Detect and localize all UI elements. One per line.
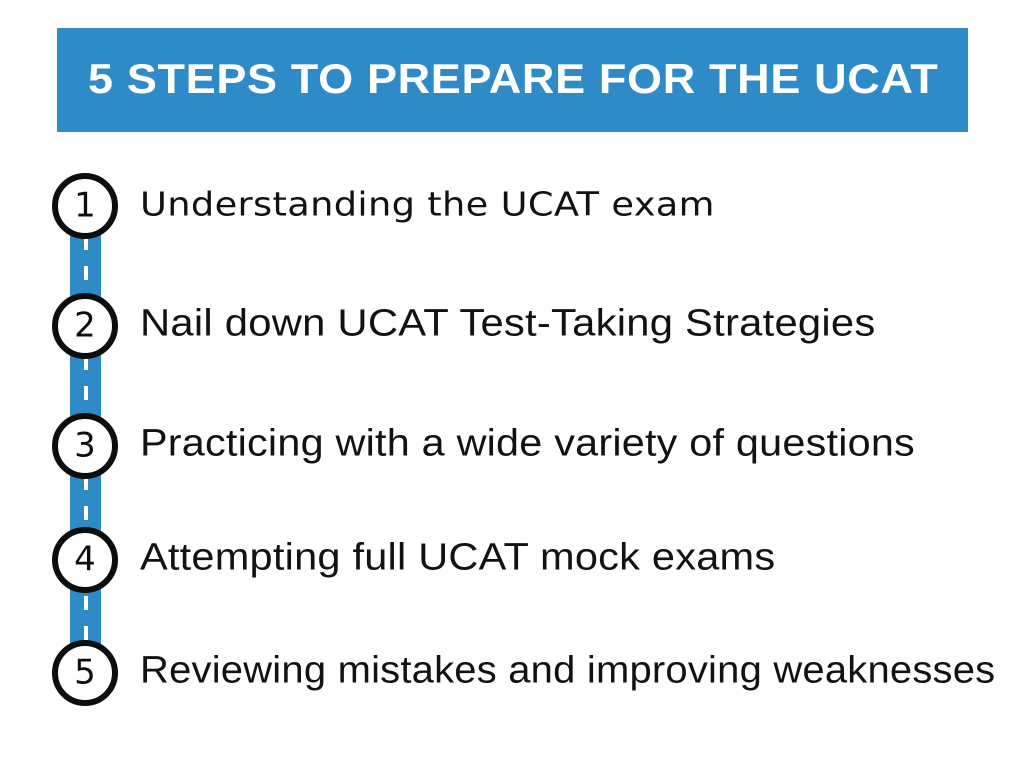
step-number-3: 3	[58, 428, 112, 462]
step-label-2: Nail down UCAT Test-Taking Strategies	[140, 304, 876, 344]
poster-canvas: 5 STEPS TO PREPARE FOR THE UCAT 1 Unders…	[0, 0, 1024, 768]
step-number-1: 1	[58, 188, 112, 222]
step-marker-3: 3	[52, 413, 118, 479]
step-number-4: 4	[58, 542, 112, 576]
step-marker-2: 2	[52, 293, 118, 359]
page-title: 5 STEPS TO PREPARE FOR THE UCAT	[88, 58, 938, 100]
step-marker-4: 4	[52, 527, 118, 593]
header-banner: 5 STEPS TO PREPARE FOR THE UCAT	[57, 28, 968, 132]
step-item-5: 5 Reviewing mistakes and improving weakn…	[0, 640, 1024, 706]
step-label-4: Attempting full UCAT mock exams	[140, 538, 775, 578]
step-marker-5: 5	[52, 640, 118, 706]
step-item-3: 3 Practicing with a wide variety of ques…	[0, 413, 1024, 479]
step-number-2: 2	[58, 308, 112, 342]
step-label-3: Practicing with a wide variety of questi…	[140, 424, 915, 464]
step-number-5: 5	[58, 655, 112, 689]
step-item-4: 4 Attempting full UCAT mock exams	[0, 527, 1024, 593]
step-item-2: 2 Nail down UCAT Test-Taking Strategies	[0, 293, 1024, 359]
step-label-5: Reviewing mistakes and improving weaknes…	[140, 651, 995, 691]
step-label-1: Understanding the UCAT exam	[140, 187, 715, 222]
step-item-1: 1 Understanding the UCAT exam	[0, 173, 1024, 239]
step-marker-1: 1	[52, 173, 118, 239]
